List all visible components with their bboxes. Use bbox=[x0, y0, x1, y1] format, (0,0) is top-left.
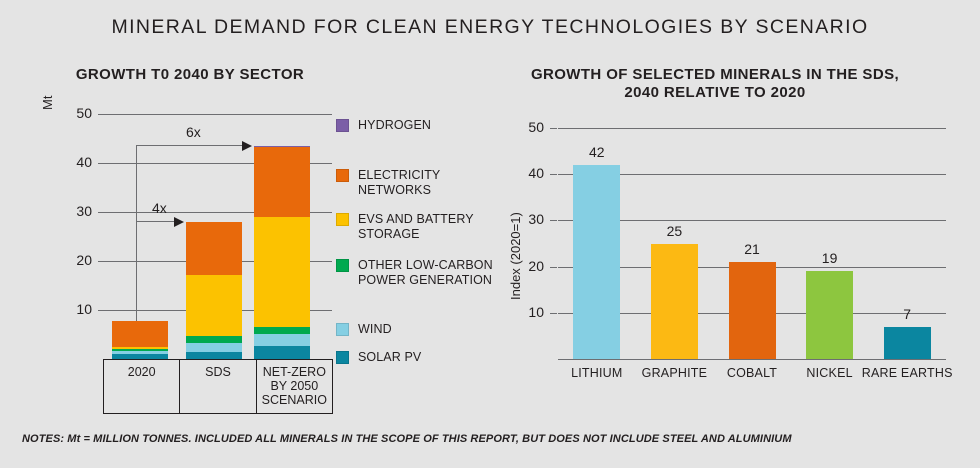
legend-swatch-icon bbox=[336, 259, 349, 272]
left-y-tick-label: 50 bbox=[58, 105, 92, 121]
bar-segment bbox=[186, 352, 242, 359]
category-label-sds: SDS bbox=[179, 360, 255, 413]
legend-swatch-icon bbox=[336, 169, 349, 182]
legend-swatch-icon bbox=[336, 119, 349, 132]
bar-segment bbox=[254, 217, 310, 327]
legend-item-label: SOLAR PV bbox=[358, 350, 421, 365]
left-y-tick-label: 20 bbox=[58, 252, 92, 268]
mineral-bar-cobalt[interactable] bbox=[729, 262, 776, 359]
bar-value-label: 21 bbox=[707, 241, 797, 257]
right-y-tickmark bbox=[550, 174, 557, 175]
figure-notes: NOTES: Mt = MILLION TONNES. INCLUDED ALL… bbox=[22, 433, 792, 445]
mineral-bar-graphite[interactable] bbox=[651, 244, 698, 360]
left-y-tickmark bbox=[98, 212, 105, 213]
right-bar-chart: 102030405042LITHIUM25GRAPHITE21COBALT19N… bbox=[490, 100, 980, 420]
bar-segment bbox=[254, 334, 310, 346]
bar-value-label: 42 bbox=[552, 144, 642, 160]
right-y-tickmark bbox=[550, 128, 557, 129]
legend-item-electricity-networks[interactable]: ELECTRICITY NETWORKS bbox=[336, 168, 496, 198]
left-y-tickmark bbox=[98, 310, 105, 311]
legend-item-other-low-carbon[interactable]: OTHER LOW-CARBON POWER GENERATION bbox=[336, 258, 496, 288]
page-title: MINERAL DEMAND FOR CLEAN ENERGY TECHNOLO… bbox=[0, 16, 980, 39]
category-label-net-zero: NET-ZERO BY 2050 SCENARIO bbox=[256, 360, 332, 413]
left-y-tickmark bbox=[98, 114, 105, 115]
bar-segment bbox=[254, 146, 310, 217]
right-y-tick-label: 40 bbox=[510, 165, 544, 181]
legend-item-hydrogen[interactable]: HYDROGEN bbox=[336, 118, 431, 133]
bar-segment bbox=[254, 327, 310, 334]
left-y-tick-label: 40 bbox=[58, 154, 92, 170]
left-y-tickmark bbox=[98, 163, 105, 164]
bar-segment bbox=[112, 321, 168, 347]
bar-value-label: 25 bbox=[629, 223, 719, 239]
right-gridline bbox=[558, 128, 946, 129]
bar-segment bbox=[112, 351, 168, 354]
bar-segment bbox=[254, 346, 310, 359]
annotation-arrow-head bbox=[242, 141, 252, 151]
bar-segment bbox=[112, 347, 168, 349]
mineral-bar-lithium[interactable] bbox=[573, 165, 620, 359]
left-y-tickmark bbox=[98, 261, 105, 262]
legend-item-wind[interactable]: WIND bbox=[336, 322, 392, 337]
stacked-bar-2[interactable] bbox=[186, 100, 242, 359]
left-y-tick-label: 30 bbox=[58, 203, 92, 219]
legend-item-label: HYDROGEN bbox=[358, 118, 431, 133]
annotation-arrow-head bbox=[174, 217, 184, 227]
right-y-tick-label: 50 bbox=[510, 119, 544, 135]
right-y-tickmark bbox=[550, 313, 557, 314]
right-axis-baseline bbox=[558, 359, 946, 360]
right-chart-title: GROWTH OF SELECTED MINERALS IN THE SDS, … bbox=[500, 66, 930, 102]
bar-segment bbox=[186, 343, 242, 352]
legend-swatch-icon bbox=[336, 323, 349, 336]
right-y-tick-label: 20 bbox=[510, 258, 544, 274]
left-y-tick-label: 10 bbox=[58, 301, 92, 317]
mineral-bar-nickel[interactable] bbox=[806, 271, 853, 359]
stacked-bar-3[interactable] bbox=[254, 100, 310, 359]
bar-value-label: 19 bbox=[785, 250, 875, 266]
mineral-bar-rare-earths[interactable] bbox=[884, 327, 931, 359]
legend-swatch-icon bbox=[336, 351, 349, 364]
legend-item-solar-pv[interactable]: SOLAR PV bbox=[336, 350, 421, 365]
right-chart-title-line1: GROWTH OF SELECTED MINERALS IN THE SDS, bbox=[500, 66, 930, 84]
legend-item-label: EVS AND BATTERY STORAGE bbox=[358, 212, 496, 242]
left-category-axis-box: 2020 SDS NET-ZERO BY 2050 SCENARIO bbox=[103, 359, 333, 414]
right-y-tick-label: 30 bbox=[510, 211, 544, 227]
legend-item-label: ELECTRICITY NETWORKS bbox=[358, 168, 496, 198]
legend-item-label: WIND bbox=[358, 322, 392, 337]
category-label-2020: 2020 bbox=[104, 360, 179, 413]
legend-item-evs-and-battery-storage[interactable]: EVS AND BATTERY STORAGE bbox=[336, 212, 496, 242]
legend-swatch-icon bbox=[336, 213, 349, 226]
bar-segment bbox=[186, 336, 242, 342]
right-y-tickmark bbox=[550, 220, 557, 221]
bar-value-label: 7 bbox=[862, 306, 952, 322]
right-y-tick-label: 10 bbox=[510, 304, 544, 320]
right-category-label: RARE EARTHS bbox=[857, 366, 957, 380]
right-y-tickmark bbox=[550, 267, 557, 268]
bar-segment bbox=[112, 349, 168, 350]
legend-item-label: OTHER LOW-CARBON POWER GENERATION bbox=[358, 258, 496, 288]
bar-segment bbox=[186, 222, 242, 274]
figure-root: MINERAL DEMAND FOR CLEAN ENERGY TECHNOLO… bbox=[0, 0, 980, 468]
bar-segment bbox=[186, 275, 242, 337]
left-chart-title: GROWTH T0 2040 BY SECTOR bbox=[20, 66, 360, 84]
stacked-bar-1[interactable] bbox=[112, 100, 168, 359]
